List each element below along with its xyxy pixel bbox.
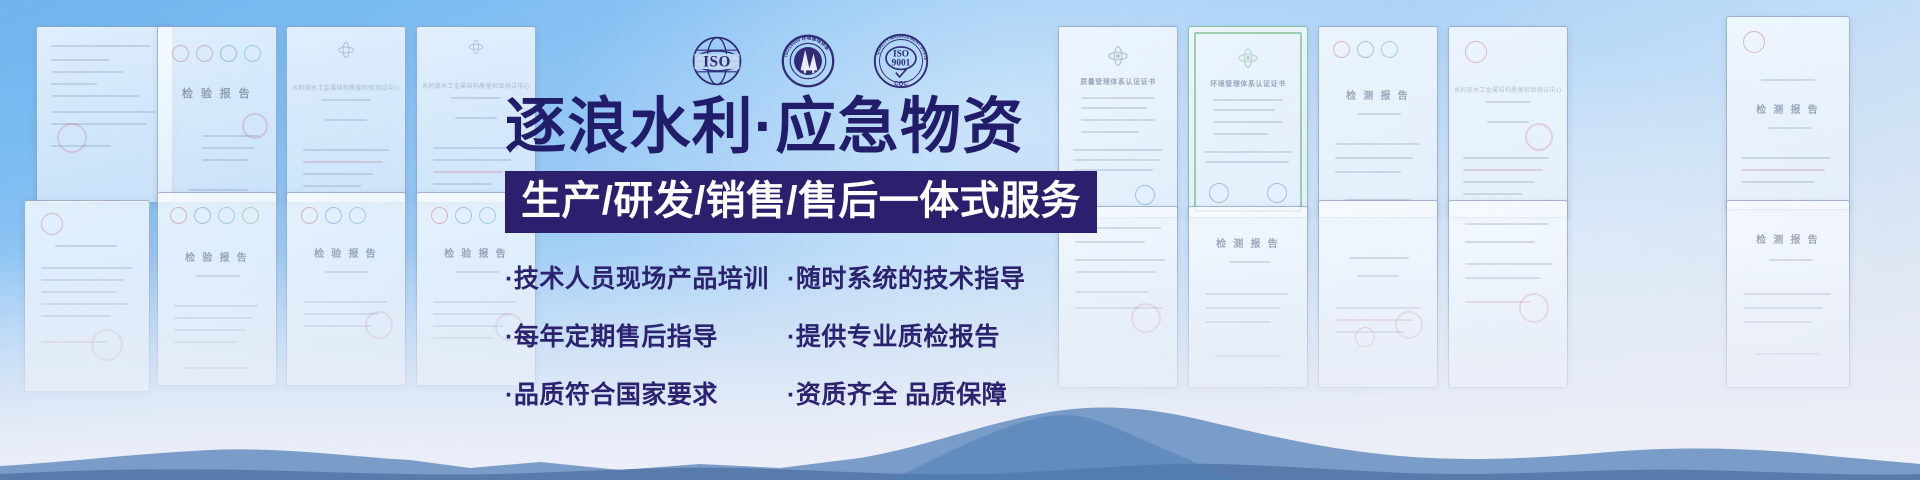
cert-title: 质量管理体系认证证书: [1059, 77, 1177, 87]
feature-item: ·技术人员现场产品培训: [505, 259, 787, 295]
feature-list: ·技术人员现场产品培训 ·随时系统的技术指导 ·每年定期售后指导 ·提供专业质检…: [505, 259, 1125, 411]
cert-title: 检 测 报 告: [1727, 231, 1849, 246]
svg-text:CQC: CQC: [894, 80, 908, 87]
cert-card: 检 测 报 告: [1726, 16, 1850, 210]
cert-subtitle: 水利部水工金属结构质量检验测试中心: [417, 81, 535, 90]
svg-text:9001: 9001: [892, 59, 911, 69]
feature-item: ·每年定期售后指导: [505, 317, 787, 353]
cert-logo-icon: [194, 207, 211, 224]
cqc-logo-icon: [1465, 41, 1487, 63]
certification-banner: 检 验 报 告 水利部水工金属结构质量检验测试中心 水利部水工金属结构质量检验测…: [0, 0, 1920, 480]
cert-logo-icon: [479, 207, 496, 224]
cert-title: 检 测 报 告: [1319, 87, 1437, 102]
cert-card: 检 测 报 告: [1318, 26, 1438, 218]
feature-item: ·资质齐全 品质保障: [787, 375, 1047, 411]
feature-item: ·随时系统的技术指导: [787, 259, 1047, 295]
cqc-logo-icon: [172, 45, 189, 62]
cert-logo-icon: [242, 207, 259, 224]
cert-title: 环境管理体系认证证书: [1189, 79, 1307, 89]
banner-text-block: 逐浪水利·应急物资 生产/研发/销售/售后一体式服务 ·技术人员现场产品培训 ·…: [505, 96, 1125, 411]
cert-logo-icon: [244, 45, 261, 62]
cert-card: 检 验 报 告: [157, 26, 277, 203]
atom-logo-icon: [468, 39, 484, 60]
cert-logo-icon: [1333, 41, 1350, 58]
iso-globe-badge: ISO: [690, 34, 744, 93]
cqc-logo-icon: [431, 207, 448, 224]
cert-title: 检 验 报 告: [158, 249, 276, 264]
feature-item: ·品质符合国家要求: [505, 375, 787, 411]
cqc-logo-icon: [301, 207, 318, 224]
cert-title: 检 验 报 告: [287, 245, 405, 260]
cert-logo-icon: [325, 207, 342, 224]
cert-title: 检 测 报 告: [1189, 235, 1307, 250]
cert-card: 水利部水工金属结构质量检验测试中心: [1448, 26, 1568, 218]
cert-logo-icon: [220, 45, 237, 62]
cert-title: 检 验 报 告: [158, 85, 276, 101]
services-bar: 生产/研发/销售/售后一体式服务: [505, 171, 1097, 233]
cert-title: 检 测 报 告: [1727, 101, 1849, 116]
cqc-logo-icon: [170, 207, 187, 224]
cert-subtitle: 水利部水工金属结构质量检验测试中心: [287, 83, 405, 92]
cert-card: 环境管理体系认证证书: [1188, 26, 1308, 218]
cert-logo-icon: [1357, 41, 1374, 58]
cert-logo-icon: [349, 207, 366, 224]
cert-subtitle: 水利部水工金属结构质量检验测试中心: [1449, 85, 1567, 94]
iso-9001-cqc-badge: ISO 9001 CQC QUALITY MANAGEMENT SYSTEM: [872, 32, 930, 95]
ccc-logo-icon: [196, 45, 213, 62]
cert-logo-icon: [218, 207, 235, 224]
certification-badges: ISO ISO14000 环境管理体系: [690, 32, 930, 95]
cert-card: 水利部水工金属结构质量检验测试中心: [286, 26, 406, 203]
page-title: 逐浪水利·应急物资: [505, 96, 1125, 157]
atom-logo-icon: [1237, 47, 1259, 74]
atom-logo-icon: [1107, 45, 1129, 72]
cert-logo-icon: [1381, 41, 1398, 58]
cert-logo-icon: [455, 207, 472, 224]
iso-14000-badge: ISO14000 环境管理体系: [780, 33, 836, 94]
svg-text:ISO: ISO: [703, 53, 731, 70]
atom-logo-icon: [337, 41, 355, 64]
feature-item: ·提供专业质检报告: [787, 317, 1047, 353]
cqc-logo-icon: [41, 213, 63, 235]
cqc-logo-icon: [1743, 31, 1765, 53]
cert-card: [36, 26, 173, 203]
